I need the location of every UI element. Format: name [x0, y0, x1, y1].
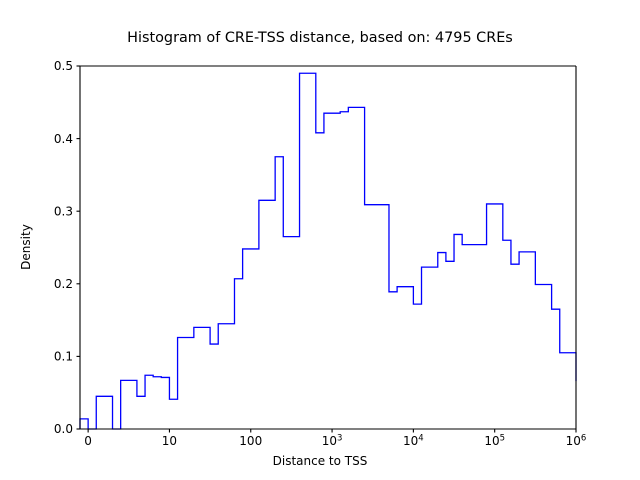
y-tick-label: 0.0 [54, 422, 73, 436]
y-axis-label: Density [19, 224, 33, 270]
y-tick-label: 0.1 [54, 350, 73, 364]
figure-canvas: Histogram of CRE-TSS distance, based on:… [0, 0, 640, 480]
x-tick-label: 103 [322, 434, 343, 449]
plot-background [80, 66, 576, 429]
x-tick-label: 104 [403, 434, 424, 449]
x-tick-label: 10 [162, 434, 177, 448]
x-tick-label: 105 [484, 434, 505, 449]
histogram-plot: 0.00.10.20.30.40.5 010100103104105106 Di… [0, 0, 640, 480]
y-tick-label: 0.2 [54, 277, 73, 291]
y-axis-ticks: 0.00.10.20.30.40.5 [54, 59, 80, 436]
y-tick-label: 0.5 [54, 59, 73, 73]
x-tick-label: 100 [239, 434, 262, 448]
x-tick-label: 106 [566, 434, 587, 449]
x-axis-label: Distance to TSS [273, 454, 368, 468]
x-tick-label: 0 [84, 434, 92, 448]
y-tick-label: 0.3 [54, 204, 73, 218]
y-tick-label: 0.4 [54, 132, 73, 146]
x-axis-ticks: 010100103104105106 [84, 429, 586, 448]
